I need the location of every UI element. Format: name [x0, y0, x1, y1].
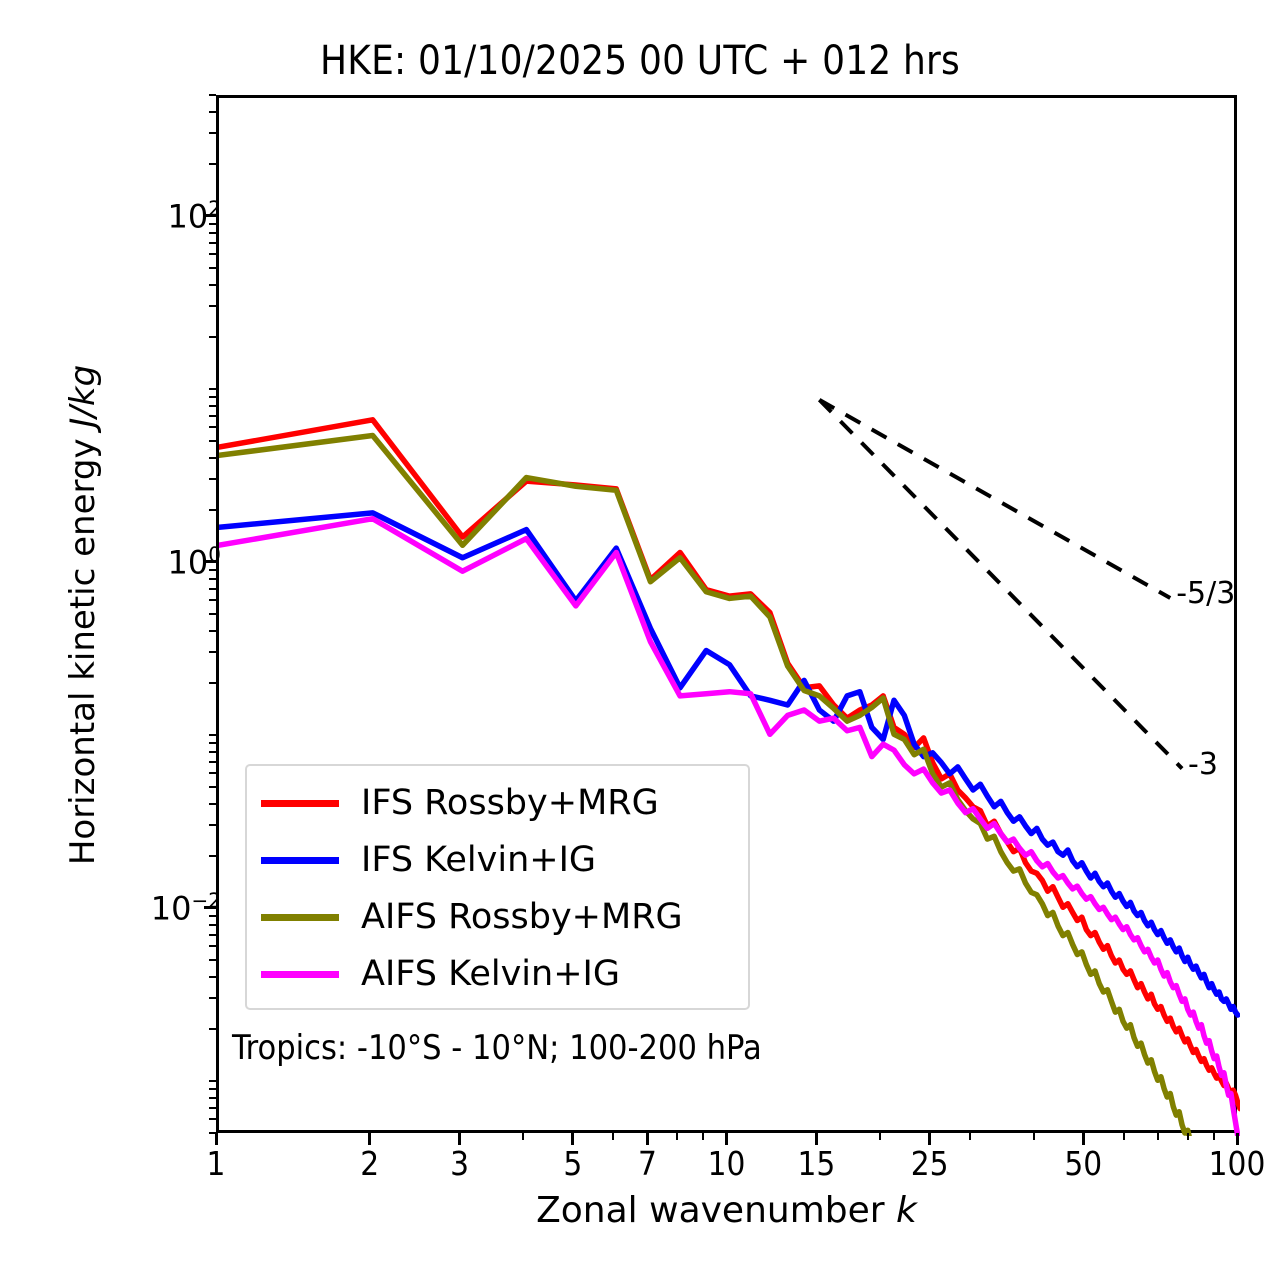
- y-minor-tick: [209, 786, 216, 788]
- y-tick-exponent: −2: [192, 889, 221, 913]
- legend-color-swatch: [261, 800, 339, 807]
- y-tick-base: 10: [168, 197, 209, 235]
- y-minor-tick: [209, 336, 216, 338]
- y-minor-tick: [209, 111, 216, 113]
- figure-canvas: HKE: 01/10/2025 00 UTC + 012 hrs Horizon…: [0, 0, 1280, 1288]
- x-tick-label: 5: [563, 1144, 582, 1183]
- x-minor-tick: [969, 1133, 971, 1140]
- legend-item-label: IFS Kelvin+IG: [361, 843, 596, 878]
- y-minor-tick: [209, 1080, 216, 1082]
- y-minor-tick: [209, 599, 216, 601]
- x-minor-tick: [522, 1133, 524, 1140]
- legend-item[interactable]: IFS Rossby+MRG: [261, 775, 659, 831]
- legend-item-label: AIFS Kelvin+IG: [361, 957, 620, 992]
- reference-slope-lines: [819, 400, 1182, 769]
- slope-label: -5/3: [1176, 576, 1235, 611]
- x-tick-label: 1: [207, 1144, 226, 1183]
- y-minor-tick: [209, 163, 216, 165]
- y-minor-tick: [209, 1132, 216, 1134]
- y-tick-base: 10: [151, 889, 192, 927]
- x-minor-tick: [676, 1133, 678, 1140]
- y-minor-tick: [209, 1097, 216, 1099]
- y-minor-tick: [209, 734, 216, 736]
- reference-slope-line: [819, 400, 1182, 769]
- legend-item[interactable]: AIFS Rossby+MRG: [261, 889, 683, 945]
- legend-item[interactable]: IFS Kelvin+IG: [261, 832, 596, 888]
- x-minor-tick: [1082, 1133, 1084, 1140]
- y-minor-tick: [209, 242, 216, 244]
- y-minor-tick: [209, 578, 216, 580]
- y-minor-tick: [209, 478, 216, 480]
- y-axis-label-text: Horizontal kinetic energy: [63, 428, 103, 866]
- y-minor-tick: [209, 1107, 216, 1109]
- x-axis-label: Zonal wavenumber k: [216, 1190, 1237, 1231]
- y-minor-tick: [209, 253, 216, 255]
- y-minor-tick: [209, 284, 216, 286]
- region-annotation: Tropics: -10°S - 10°N; 100-200 hPa: [232, 1028, 762, 1068]
- x-minor-tick: [215, 1133, 217, 1140]
- y-tick-base: 10: [168, 543, 209, 581]
- y-minor-tick: [209, 509, 216, 511]
- y-minor-tick: [209, 415, 216, 417]
- x-tick-label: 15: [798, 1144, 836, 1183]
- x-tick-label: 7: [638, 1144, 657, 1183]
- legend-color-swatch: [261, 971, 339, 978]
- x-minor-tick: [1157, 1133, 1159, 1140]
- x-tick-label: 25: [911, 1144, 949, 1183]
- y-minor-tick: [209, 1028, 216, 1030]
- y-minor-tick: [209, 232, 216, 234]
- x-axis-label-text: Zonal wavenumber: [536, 1190, 896, 1231]
- x-minor-tick: [1187, 1133, 1189, 1140]
- x-axis-symbol: k: [896, 1190, 917, 1231]
- x-tick-label: 2: [360, 1144, 379, 1183]
- y-minor-tick: [209, 803, 216, 805]
- x-minor-tick: [1123, 1133, 1125, 1140]
- page-title: HKE: 01/10/2025 00 UTC + 012 hrs: [0, 38, 1280, 84]
- y-minor-tick: [209, 934, 216, 936]
- x-minor-tick: [1213, 1133, 1215, 1140]
- y-minor-tick: [209, 305, 216, 307]
- x-tick-label: 3: [450, 1144, 469, 1183]
- y-axis-units: J/kg: [63, 365, 103, 428]
- y-minor-tick: [209, 761, 216, 763]
- x-minor-tick: [612, 1133, 614, 1140]
- legend-item-label: AIFS Rossby+MRG: [361, 900, 683, 935]
- y-minor-tick: [209, 405, 216, 407]
- y-minor-tick: [209, 267, 216, 269]
- y-minor-tick: [209, 742, 216, 744]
- y-minor-tick: [209, 945, 216, 947]
- y-minor-tick: [209, 588, 216, 590]
- y-minor-tick: [209, 924, 216, 926]
- y-minor-tick: [209, 215, 216, 217]
- x-minor-tick: [1033, 1133, 1035, 1140]
- y-minor-tick: [209, 426, 216, 428]
- y-minor-tick: [209, 132, 216, 134]
- slope-label: -3: [1188, 747, 1218, 782]
- y-minor-tick: [209, 457, 216, 459]
- legend-color-swatch: [261, 857, 339, 864]
- y-minor-tick: [209, 751, 216, 753]
- y-axis-label: Horizontal kinetic energy J/kg: [63, 265, 103, 965]
- x-tick-label: 100: [1209, 1144, 1266, 1183]
- y-minor-tick: [209, 396, 216, 398]
- x-minor-tick: [879, 1133, 881, 1140]
- y-tick-exponent: 2: [208, 197, 221, 221]
- y-tick-exponent: 0: [208, 543, 221, 567]
- y-minor-tick: [209, 682, 216, 684]
- y-minor-tick: [209, 855, 216, 857]
- y-minor-tick: [209, 907, 216, 909]
- legend-item-label: IFS Rossby+MRG: [361, 786, 659, 821]
- y-minor-tick: [209, 976, 216, 978]
- y-minor-tick: [209, 223, 216, 225]
- y-minor-tick: [209, 772, 216, 774]
- y-minor-tick: [209, 569, 216, 571]
- y-minor-tick: [209, 959, 216, 961]
- legend[interactable]: IFS Rossby+MRGIFS Kelvin+IGAIFS Rossby+M…: [245, 764, 750, 1010]
- x-minor-tick: [369, 1133, 371, 1140]
- y-minor-tick: [209, 630, 216, 632]
- x-minor-tick: [572, 1133, 574, 1140]
- y-minor-tick: [209, 1088, 216, 1090]
- x-minor-tick: [646, 1133, 648, 1140]
- y-minor-tick: [209, 388, 216, 390]
- y-minor-tick: [209, 915, 216, 917]
- x-minor-tick: [702, 1133, 704, 1140]
- x-minor-tick: [726, 1133, 728, 1140]
- x-minor-tick: [459, 1133, 461, 1140]
- y-minor-tick: [209, 613, 216, 615]
- y-minor-tick: [209, 824, 216, 826]
- x-tick-label: 50: [1064, 1144, 1102, 1183]
- y-minor-tick: [209, 440, 216, 442]
- x-tick-label: 10: [708, 1144, 746, 1183]
- y-minor-tick: [209, 94, 216, 96]
- reference-slope-line: [819, 400, 1170, 598]
- y-minor-tick: [209, 651, 216, 653]
- y-minor-tick: [209, 997, 216, 999]
- legend-item[interactable]: AIFS Kelvin+IG: [261, 946, 620, 1002]
- y-minor-tick: [209, 561, 216, 563]
- legend-color-swatch: [261, 914, 339, 921]
- y-minor-tick: [209, 1118, 216, 1120]
